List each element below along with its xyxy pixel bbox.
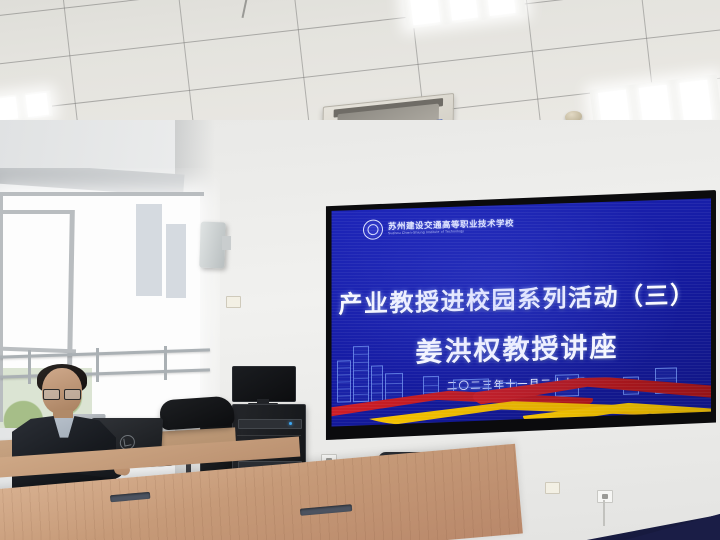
window-frame-horizontal: [0, 192, 204, 196]
speaker-bracket: [222, 236, 231, 250]
display-panel: 苏州建设交通高等职业技术学校 Suzhou Chien-Shiung Insti…: [323, 197, 711, 429]
control-monitor: [232, 366, 294, 406]
room-photo: 苏州建设交通高等职业技术学校 Suzhou Chien-Shiung Insti…: [0, 0, 720, 540]
light-switch-plate[interactable]: [226, 296, 241, 308]
monitor-screen: [232, 366, 296, 402]
window-sash-frame: [0, 210, 74, 214]
led-display[interactable]: 苏州建设交通高等职业技术学校 Suzhou Chien-Shiung Insti…: [318, 190, 716, 440]
power-cable: [603, 500, 605, 526]
black-backpack: [159, 395, 235, 430]
slide-title-line1: 产业教授进校园系列活动（三）: [323, 275, 711, 320]
outdoor-building: [136, 204, 162, 296]
school-logo: 苏州建设交通高等职业技术学校 Suzhou Chien-Shiung Insti…: [363, 216, 514, 240]
presentation-slide: 苏州建设交通高等职业技术学校 Suzhou Chien-Shiung Insti…: [323, 197, 711, 429]
eyeglasses-icon: [43, 389, 81, 398]
school-name-en: Suzhou Chien-Shiung Institute of Technol…: [388, 229, 514, 236]
light-switch-plate[interactable]: [545, 482, 560, 494]
window-frame-vertical: [0, 192, 3, 422]
university-seal-icon: [363, 219, 383, 240]
outdoor-building: [166, 224, 186, 298]
wall-power-outlet[interactable]: [597, 490, 613, 503]
rail-post: [164, 346, 167, 380]
